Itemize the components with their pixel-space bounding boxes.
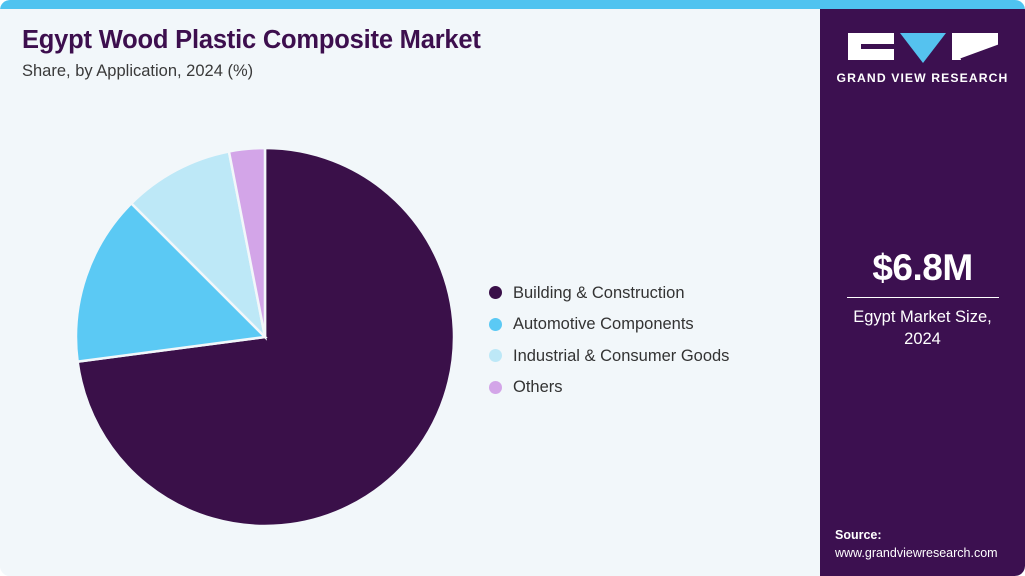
page-title: Egypt Wood Plastic Composite Market	[22, 25, 802, 56]
legend-color-dot-icon	[489, 349, 502, 362]
logo-r-icon	[952, 33, 998, 60]
stat-value: $6.8M	[820, 249, 1025, 288]
stat-divider	[847, 297, 999, 299]
legend-color-dot-icon	[489, 286, 502, 299]
legend-item[interactable]: Industrial & Consumer Goods	[489, 340, 789, 372]
legend-color-dot-icon	[489, 381, 502, 394]
infographic-card: Egypt Wood Plastic Composite Market Shar…	[0, 0, 1025, 576]
legend-item[interactable]: Others	[489, 372, 789, 404]
source-block: Source: www.grandviewresearch.com	[835, 526, 1025, 562]
source-label: Source:	[835, 526, 1025, 544]
top-accent-bar	[0, 0, 1025, 9]
legend-item-label: Automotive Components	[513, 316, 694, 333]
legend-item[interactable]: Automotive Components	[489, 309, 789, 341]
source-url: www.grandviewresearch.com	[835, 544, 1025, 562]
title-block: Egypt Wood Plastic Composite Market Shar…	[22, 25, 802, 81]
market-size-stat: $6.8M Egypt Market Size, 2024	[820, 249, 1025, 351]
logo-v-triangle-icon	[900, 33, 946, 63]
legend-item-label: Others	[513, 379, 563, 396]
page-subtitle: Share, by Application, 2024 (%)	[22, 62, 802, 82]
legend-item[interactable]: Building & Construction	[489, 277, 789, 309]
brand-logo: GRAND VIEW RESEARCH	[820, 33, 1025, 85]
logo-g-icon	[848, 33, 894, 60]
logo-marks	[820, 33, 1025, 63]
pie-chart-svg	[67, 139, 463, 535]
pie-chart	[67, 139, 463, 535]
sidebar-panel: GRAND VIEW RESEARCH $6.8M Egypt Market S…	[820, 9, 1025, 576]
logo-wordmark: GRAND VIEW RESEARCH	[820, 71, 1025, 85]
chart-panel: Egypt Wood Plastic Composite Market Shar…	[0, 9, 820, 576]
stat-caption: Egypt Market Size, 2024	[820, 307, 1025, 351]
legend-item-label: Building & Construction	[513, 285, 685, 302]
legend-item-label: Industrial & Consumer Goods	[513, 348, 729, 365]
chart-legend: Building & ConstructionAutomotive Compon…	[489, 277, 789, 403]
legend-color-dot-icon	[489, 318, 502, 331]
